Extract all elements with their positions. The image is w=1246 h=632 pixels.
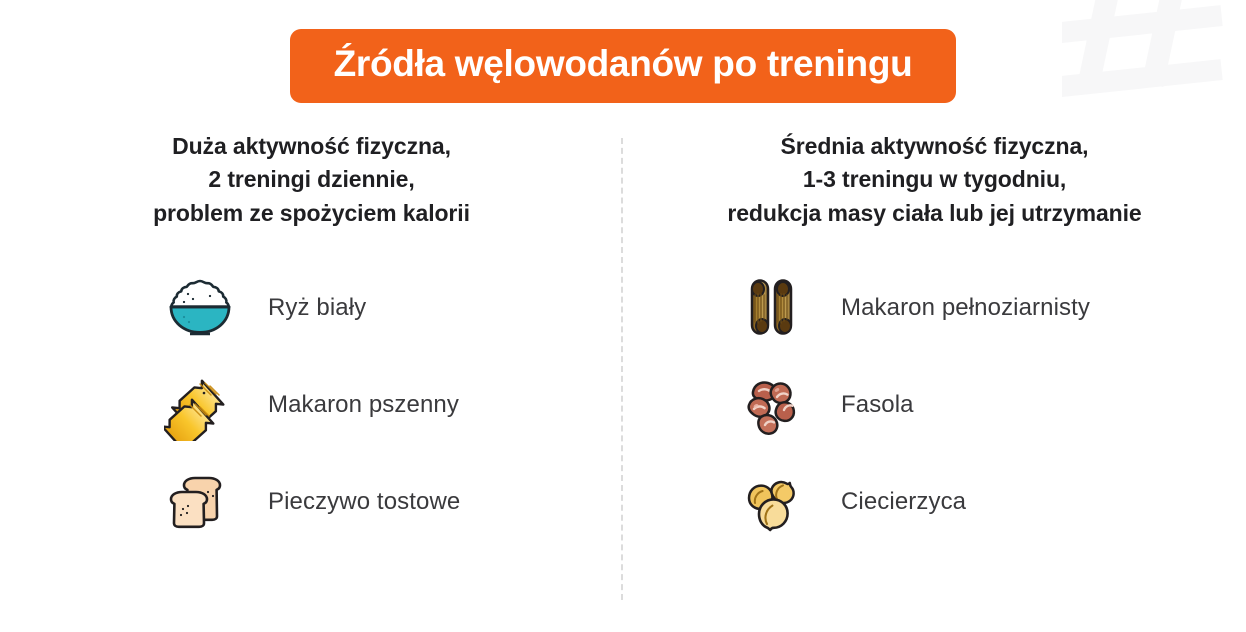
list-item: Ryż biały xyxy=(0,260,623,357)
infographic-root: Źródła węlowodanów po treningu Duża akty… xyxy=(0,0,1246,632)
list-item-label: Makaron pełnoziarnisty xyxy=(841,294,1090,322)
page-title: Źródła węlowodanów po treningu xyxy=(290,29,957,103)
rice-bowl-icon xyxy=(164,272,236,344)
list-item: Makaron pszenny xyxy=(0,357,623,454)
header-line-2: 2 treningi dziennie, xyxy=(18,163,605,196)
chickpeas-icon xyxy=(739,466,811,538)
toast-bread-icon xyxy=(164,466,236,538)
list-item-label: Ciecierzyca xyxy=(841,488,966,516)
food-list-medium-activity: Makaron pełnoziarnisty xyxy=(623,260,1246,551)
columns-container: Duża aktywność fizyczna, 2 treningi dzie… xyxy=(0,130,1246,551)
food-list-high-activity: Ryż biały xyxy=(0,260,623,551)
header-line-3: problem ze spożyciem kalorii xyxy=(18,197,605,230)
wholegrain-penne-icon xyxy=(739,272,811,344)
header-line-2: 1-3 treningu w tygodniu, xyxy=(641,163,1228,196)
list-item-label: Makaron pszenny xyxy=(268,391,459,419)
column-medium-activity: Średnia aktywność fizyczna, 1-3 treningu… xyxy=(623,130,1246,551)
column-high-activity: Duża aktywność fizyczna, 2 treningi dzie… xyxy=(0,130,623,551)
column-header-high-activity: Duża aktywność fizyczna, 2 treningi dzie… xyxy=(0,130,623,230)
column-header-medium-activity: Średnia aktywność fizyczna, 1-3 treningu… xyxy=(623,130,1246,230)
list-item: Ciecierzyca xyxy=(623,454,1246,551)
penne-pasta-icon xyxy=(164,369,236,441)
vertical-dashed-divider xyxy=(621,138,623,600)
list-item-label: Pieczywo tostowe xyxy=(268,488,460,516)
list-item-label: Ryż biały xyxy=(268,294,366,322)
kidney-beans-icon xyxy=(739,369,811,441)
list-item-label: Fasola xyxy=(841,391,914,419)
header-line-1: Duża aktywność fizyczna, xyxy=(18,130,605,163)
list-item: Pieczywo tostowe xyxy=(0,454,623,551)
header-line-1: Średnia aktywność fizyczna, xyxy=(641,130,1228,163)
list-item: Makaron pełnoziarnisty xyxy=(623,260,1246,357)
list-item: Fasola xyxy=(623,357,1246,454)
title-container: Źródła węlowodanów po treningu xyxy=(0,0,1246,103)
header-line-3: redukcja masy ciała lub jej utrzymanie xyxy=(641,197,1228,230)
